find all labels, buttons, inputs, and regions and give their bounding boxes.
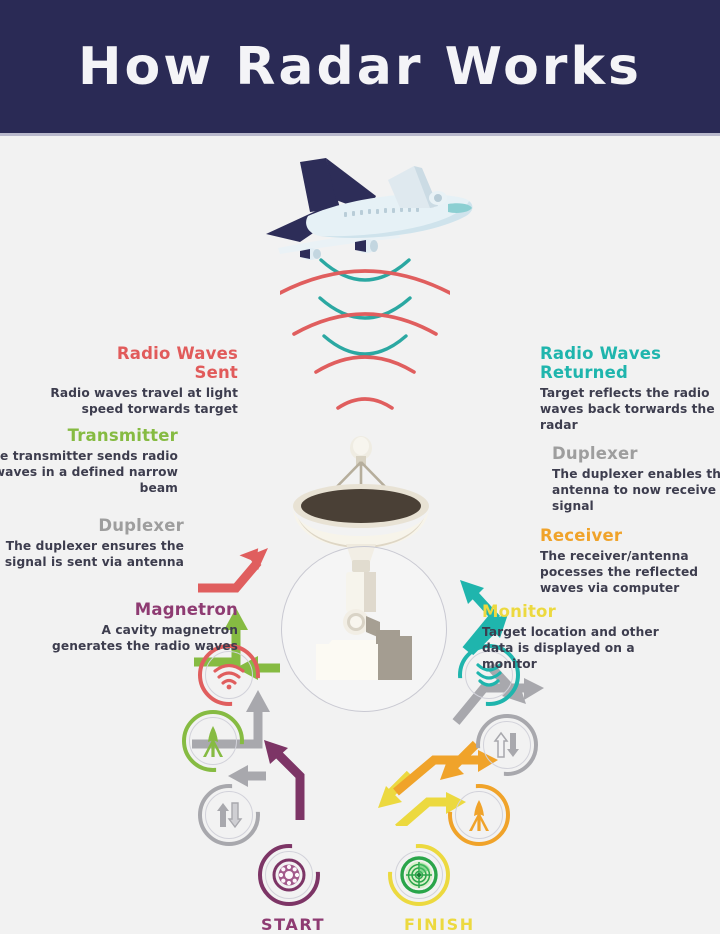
- step-body-receiver: The receiver/antenna pocesses the reflec…: [540, 548, 720, 596]
- arrow-red: [198, 562, 258, 588]
- step-body-duplexer-left: The duplexer ensures the signal is sent …: [0, 538, 184, 570]
- badge-duplexer-left[interactable]: [198, 784, 260, 846]
- step-text-duplexer-right: Duplexer The duplexer enables the antenn…: [552, 444, 720, 514]
- badge-receiver[interactable]: [448, 784, 510, 846]
- step-body-monitor: Target location and other data is displa…: [482, 624, 692, 672]
- infographic-stage: Radio Waves Sent Radio waves travel at l…: [0, 136, 720, 828]
- up-down-arrows-icon: [476, 714, 538, 776]
- step-text-transmitter: Transmitter The transmitter sends radio …: [0, 426, 178, 496]
- radar-scope-icon: [388, 844, 450, 906]
- step-body-duplexer-right: The duplexer enables the antenna to now …: [552, 466, 720, 514]
- step-body-radio-waves-returned: Target reflects the radio waves back tor…: [540, 385, 720, 433]
- step-body-magnetron: A cavity magnetron generates the radio w…: [38, 622, 238, 654]
- step-title-duplexer-left: Duplexer: [0, 516, 184, 535]
- up-down-arrows-icon: [198, 784, 260, 846]
- step-title-radio-waves-returned: Radio Waves Returned: [540, 344, 720, 382]
- badge-monitor[interactable]: [388, 844, 450, 906]
- badge-duplexer-right[interactable]: [476, 714, 538, 776]
- step-body-radio-waves-sent: Radio waves travel at light speed torwar…: [38, 385, 238, 417]
- step-text-duplexer-left: Duplexer The duplexer ensures the signal…: [0, 516, 184, 570]
- radio-wave-arcs: [280, 256, 450, 436]
- arrow-gray-right-tip: [524, 678, 544, 700]
- step-title-radio-waves-sent: Radio Waves Sent: [38, 344, 238, 382]
- step-text-monitor: Monitor Target location and other data i…: [482, 602, 692, 672]
- step-title-transmitter: Transmitter: [0, 426, 178, 445]
- sent-arc-1: [280, 271, 450, 294]
- returned-arc-3: [324, 336, 406, 354]
- step-text-receiver: Receiver The receiver/antenna pocesses t…: [540, 526, 720, 596]
- sent-arc-4: [338, 399, 392, 408]
- badge-transmitter[interactable]: [182, 710, 244, 772]
- arrow-purple: [276, 752, 300, 820]
- step-title-magnetron: Magnetron: [38, 600, 238, 619]
- step-text-magnetron: Magnetron A cavity magnetron generates t…: [38, 600, 238, 654]
- step-title-duplexer-right: Duplexer: [552, 444, 720, 463]
- cavity-magnetron-icon: [258, 844, 320, 906]
- antenna-tripod-icon: [182, 710, 244, 772]
- badge-magnetron[interactable]: [258, 844, 320, 906]
- step-body-transmitter: The transmitter sends radio waves in a d…: [0, 448, 178, 496]
- step-text-radio-waves-sent: Radio Waves Sent Radio waves travel at l…: [38, 344, 238, 417]
- sent-arc-3: [316, 357, 414, 372]
- step-text-radio-waves-returned: Radio Waves Returned Target reflects the…: [540, 344, 720, 434]
- page-title: How Radar Works: [78, 37, 642, 97]
- step-title-receiver: Receiver: [540, 526, 720, 545]
- arrow-yellow: [398, 802, 452, 826]
- antenna-tripod-icon: [448, 784, 510, 846]
- step-title-monitor: Monitor: [482, 602, 692, 621]
- title-banner: How Radar Works: [0, 0, 720, 133]
- airplane-icon: [248, 150, 478, 260]
- finish-label: FINISH: [404, 915, 475, 934]
- start-label: START: [261, 915, 325, 934]
